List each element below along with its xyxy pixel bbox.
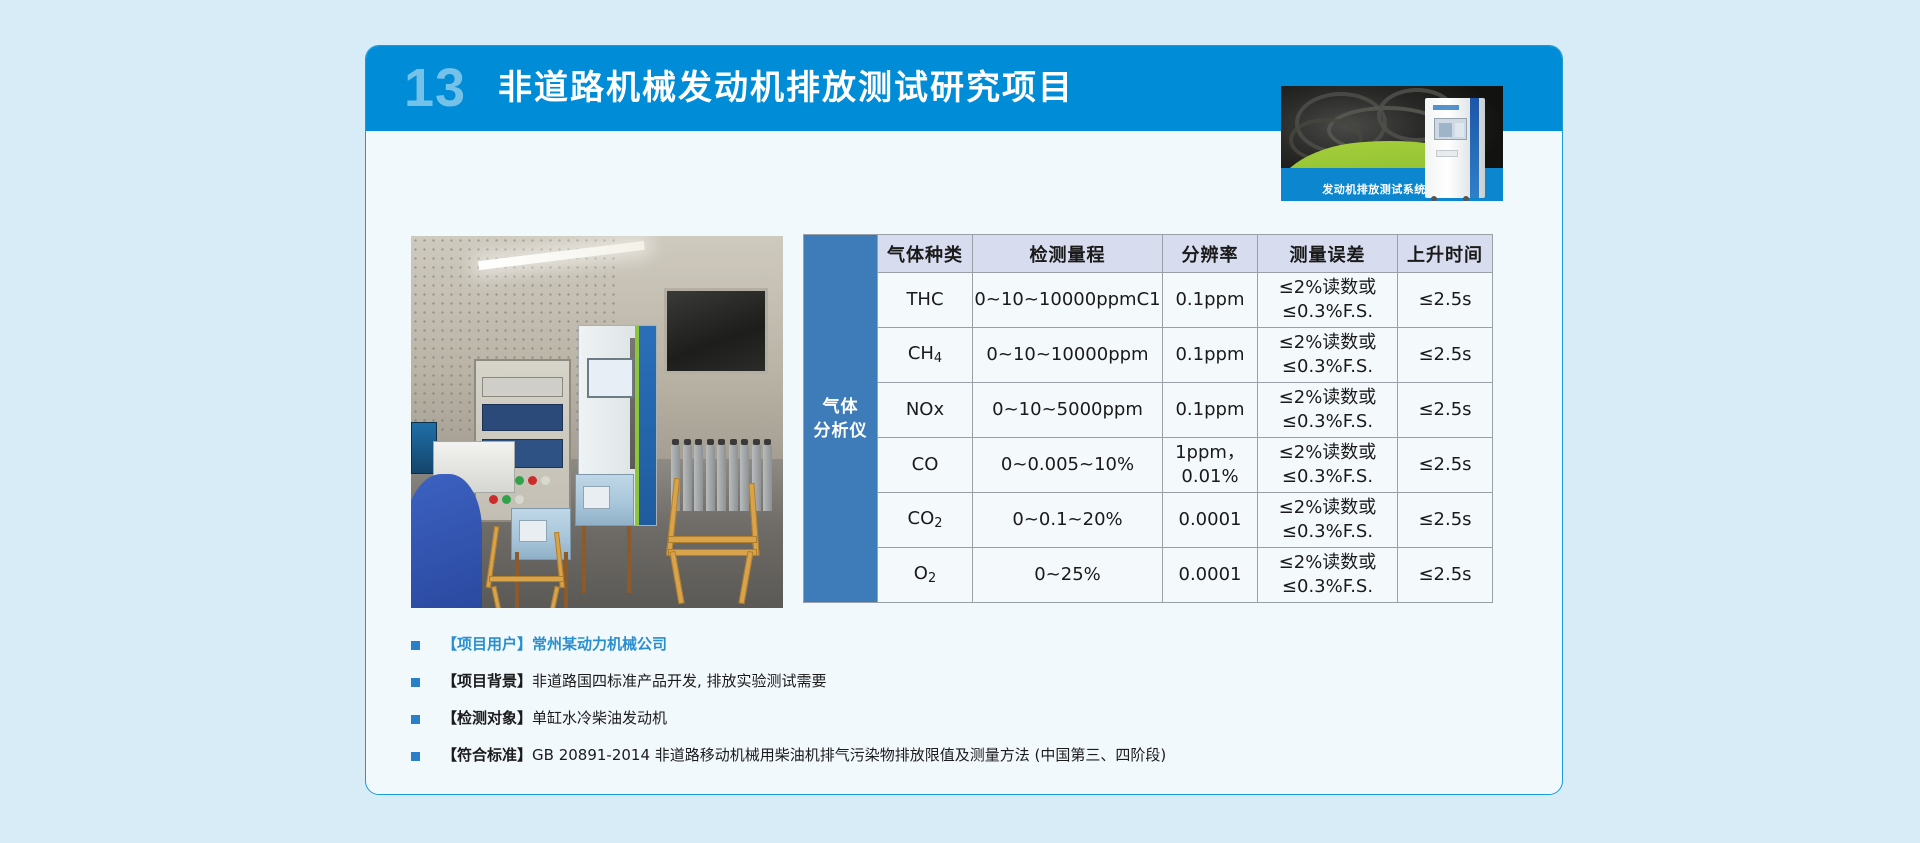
photo-stool-leg	[582, 526, 586, 593]
page-title: 非道路机械发动机排放测试研究项目	[498, 64, 1074, 112]
card-index-number: 13	[404, 54, 466, 122]
list-item: 【符合标准】GB 20891-2014 非道路移动机械用柴油机排气污染物排放限值…	[411, 745, 1511, 766]
list-item-text: 【项目用户】常州某动力机械公司	[442, 634, 667, 655]
cell-detection-range: 0~10~10000ppmC1	[973, 273, 1163, 328]
table-header-row: 气体种类 检测量程 分辨率 测量误差 上升时间	[878, 235, 1493, 273]
cell-rise-time: ≤2.5s	[1398, 328, 1493, 383]
side-label-line-2: 分析仪	[814, 419, 868, 443]
cell-resolution: 0.1ppm	[1163, 328, 1258, 383]
cell-resolution: 0.0001	[1163, 548, 1258, 603]
table-row: CO20~0.1~20%0.0001≤2%读数或≤0.3%F.S.≤2.5s	[878, 493, 1493, 548]
photo-person	[411, 474, 482, 608]
panel-button	[502, 495, 511, 504]
photo-window	[664, 288, 768, 374]
thumbnail-caption: 发动机排放测试系统	[1281, 181, 1467, 197]
square-bullet-icon	[411, 641, 420, 650]
cell-detection-range: 0~0.005~10%	[973, 438, 1163, 493]
cell-gas-type: CH4	[878, 328, 973, 383]
cell-measurement-error: ≤2%读数或≤0.3%F.S.	[1258, 493, 1398, 548]
column-header-range: 检测量程	[973, 235, 1163, 273]
panel-button	[528, 476, 537, 485]
list-item-value: GB 20891-2014 非道路移动机械用柴油机排气污染物排放限值及测量方法 …	[532, 746, 1166, 764]
panel-instrument-strip	[482, 404, 564, 431]
list-item-text: 【符合标准】GB 20891-2014 非道路移动机械用柴油机排气污染物排放限值…	[442, 745, 1166, 766]
cell-detection-range: 0~25%	[973, 548, 1163, 603]
list-item-label: 【检测对象】	[442, 709, 532, 727]
cell-detection-range: 0~0.1~20%	[973, 493, 1163, 548]
product-thumbnail: 发动机排放测试系统	[1281, 86, 1503, 201]
cell-measurement-error: ≤2%读数或≤0.3%F.S.	[1258, 328, 1398, 383]
column-header-gas-type: 气体种类	[878, 235, 973, 273]
table-body: THC0~10~10000ppmC10.1ppm≤2%读数或≤0.3%F.S.≤…	[878, 273, 1493, 603]
photo-folding-chair	[664, 478, 761, 604]
cell-resolution: 0.1ppm	[1163, 383, 1258, 438]
column-header-error: 测量误差	[1258, 235, 1398, 273]
photo-stool-leg	[627, 526, 631, 593]
cell-resolution: 0.1ppm	[1163, 273, 1258, 328]
cell-rise-time: ≤2.5s	[1398, 273, 1493, 328]
list-item: 【项目用户】常州某动力机械公司	[411, 634, 1511, 655]
photo-folding-chair	[485, 526, 567, 608]
lab-photo	[411, 236, 783, 608]
cabinet-blue-panel	[639, 326, 656, 525]
spec-table: 气体种类 检测量程 分辨率 测量误差 上升时间 THC0~10~10000ppm…	[877, 234, 1493, 603]
table-row: CH40~10~10000ppm0.1ppm≤2%读数或≤0.3%F.S.≤2.…	[878, 328, 1493, 383]
cabinet-logo	[1433, 105, 1459, 110]
square-bullet-icon	[411, 678, 420, 687]
cell-resolution: 0.0001	[1163, 493, 1258, 548]
table-side-label: 气体 分析仪	[803, 234, 877, 603]
cabinet-screen	[1434, 118, 1467, 140]
page-root: 13 非道路机械发动机排放测试研究项目 发动机排放测试系统	[0, 0, 1920, 843]
cell-measurement-error: ≤2%读数或≤0.3%F.S.	[1258, 548, 1398, 603]
cabinet-blue-stripe	[1470, 98, 1479, 198]
list-item-label: 【符合标准】	[442, 746, 532, 764]
cell-measurement-error: ≤2%读数或≤0.3%F.S.	[1258, 383, 1398, 438]
table-row: THC0~10~10000ppmC10.1ppm≤2%读数或≤0.3%F.S.≤…	[878, 273, 1493, 328]
list-item: 【检测对象】单缸水冷柴油发动机	[411, 708, 1511, 729]
cell-rise-time: ≤2.5s	[1398, 438, 1493, 493]
cell-gas-type: CO	[878, 438, 973, 493]
cell-measurement-error: ≤2%读数或≤0.3%F.S.	[1258, 438, 1398, 493]
cabinet-slot	[1436, 150, 1458, 157]
square-bullet-icon	[411, 752, 420, 761]
list-item-label: 【项目用户】	[442, 635, 532, 653]
cell-detection-range: 0~10~5000ppm	[973, 383, 1163, 438]
cell-detection-range: 0~10~10000ppm	[973, 328, 1163, 383]
list-item-text: 【项目背景】非道路国四标准产品开发, 排放实验测试需要	[442, 671, 827, 692]
cell-rise-time: ≤2.5s	[1398, 493, 1493, 548]
cell-gas-type: THC	[878, 273, 973, 328]
square-bullet-icon	[411, 715, 420, 724]
column-header-rise-time: 上升时间	[1398, 235, 1493, 273]
cell-resolution: 1ppm，0.01%	[1163, 438, 1258, 493]
cell-measurement-error: ≤2%读数或≤0.3%F.S.	[1258, 273, 1398, 328]
table-row: O20~25%0.0001≤2%读数或≤0.3%F.S.≤2.5s	[878, 548, 1493, 603]
list-item-label: 【项目背景】	[442, 672, 532, 690]
gas-analyzer-spec-table: 气体 分析仪 气体种类 检测量程 分辨率 测量误差 上升时间	[803, 234, 1493, 603]
cell-gas-type: CO2	[878, 493, 973, 548]
list-item: 【项目背景】非道路国四标准产品开发, 排放实验测试需要	[411, 671, 1511, 692]
table-row: NOx0~10~5000ppm0.1ppm≤2%读数或≤0.3%F.S.≤2.5…	[878, 383, 1493, 438]
column-header-resolution: 分辨率	[1163, 235, 1258, 273]
cell-gas-type: NOx	[878, 383, 973, 438]
panel-button	[541, 476, 550, 485]
table-row: CO0~0.005~10%1ppm，0.01%≤2%读数或≤0.3%F.S.≤2…	[878, 438, 1493, 493]
photo-portable-analyzer	[575, 474, 635, 526]
list-item-value: 非道路国四标准产品开发, 排放实验测试需要	[532, 672, 827, 690]
cabinet-display	[587, 358, 634, 398]
cell-gas-type: O2	[878, 548, 973, 603]
panel-button	[489, 495, 498, 504]
list-item-text: 【检测对象】单缸水冷柴油发动机	[442, 708, 667, 729]
panel-label-strip	[482, 377, 564, 398]
project-card: 13 非道路机械发动机排放测试研究项目 发动机排放测试系统	[365, 45, 1563, 795]
cell-rise-time: ≤2.5s	[1398, 383, 1493, 438]
panel-button	[515, 495, 524, 504]
cell-rise-time: ≤2.5s	[1398, 548, 1493, 603]
panel-button	[515, 476, 524, 485]
side-label-line-1: 气体	[814, 395, 868, 419]
project-info-list: 【项目用户】常州某动力机械公司【项目背景】非道路国四标准产品开发, 排放实验测试…	[411, 634, 1511, 782]
list-item-value: 单缸水冷柴油发动机	[532, 709, 667, 727]
list-item-value: 常州某动力机械公司	[532, 635, 667, 653]
